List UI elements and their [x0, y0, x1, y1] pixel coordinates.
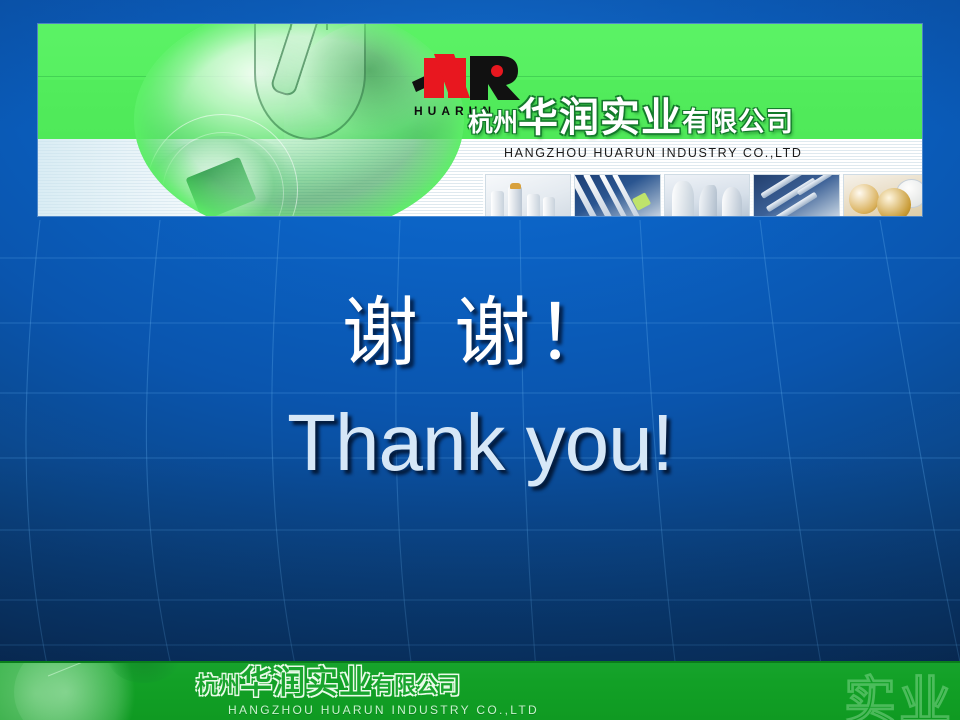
- product-image-2: [574, 174, 660, 216]
- slide-title-english: Thank you!: [0, 403, 960, 483]
- banner-company-name-cn: 杭州华润实业有限公司: [468, 98, 794, 138]
- presentation-slide: HUARUN 杭州华润实业有限公司 HANGZHOU HUARUN INDUST…: [0, 0, 960, 720]
- company-name-cn-main: 华润实业: [518, 95, 682, 141]
- product-image-3: [664, 174, 750, 216]
- product-image-4: [753, 174, 839, 216]
- company-footer-bar: 实业 杭州华润实业有限公司 HANGZHOU HUARUN INDUSTRY C…: [0, 661, 960, 720]
- footer-company-name-en: HANGZHOU HUARUN INDUSTRY CO.,LTD: [228, 703, 539, 717]
- banner-company-name-en: HANGZHOU HUARUN INDUSTRY CO.,LTD: [504, 146, 802, 160]
- company-name-cn-prefix: 杭州: [468, 108, 518, 137]
- slide-title-chinese: 谢 谢！: [0, 295, 960, 371]
- company-header-banner: HUARUN 杭州华润实业有限公司 HANGZHOU HUARUN INDUST…: [38, 24, 922, 216]
- hr-monogram-icon: [408, 52, 526, 104]
- footer-company-name-cn: 杭州华润实业有限公司: [196, 666, 460, 698]
- footer-watermark-text: 实业: [844, 661, 954, 720]
- footer-name-cn-suffix: 有限公司: [372, 674, 460, 699]
- company-name-cn-suffix: 有限公司: [682, 107, 794, 138]
- footer-name-cn-prefix: 杭州: [196, 674, 240, 699]
- product-image-1: [485, 174, 571, 216]
- product-image-5: [843, 174, 922, 216]
- product-image-strip: [483, 172, 922, 216]
- footer-name-cn-main: 华润实业: [240, 663, 372, 701]
